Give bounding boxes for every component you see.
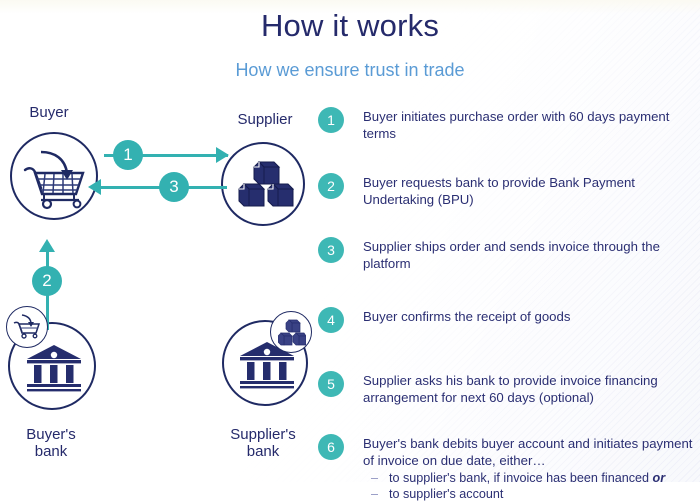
step-item-2[interactable]: 2 Buyer requests bank to provide Bank Pa… — [318, 173, 700, 208]
node-label-buyers-bank: Buyer's bank — [4, 426, 98, 460]
flow-3-badge: 3 — [159, 172, 189, 202]
sub-text-1: to supplier's bank, if invoice has been … — [389, 471, 653, 485]
step-body-5: Supplier asks his bank to provide invoic… — [363, 371, 700, 406]
node-label-supplier: Supplier — [218, 111, 312, 128]
step-text-6: Buyer's bank debits buyer account and in… — [363, 436, 700, 469]
step-item-5[interactable]: 5 Supplier asks his bank to provide invo… — [318, 371, 700, 406]
sub-dash-marker: – — [371, 470, 378, 486]
step-item-1[interactable]: 1 Buyer initiates purchase order with 60… — [318, 107, 700, 142]
boxes-icon — [238, 158, 294, 214]
flow-1-badge: 1 — [113, 140, 143, 170]
node-supplier[interactable] — [221, 142, 305, 226]
node-label-buyer: Buyer — [4, 104, 94, 121]
flow-2-badge: 2 — [32, 266, 62, 296]
step-number-6: 6 — [318, 434, 344, 460]
page-subtitle: How we ensure trust in trade — [0, 60, 700, 81]
page-title: How it works — [0, 8, 700, 44]
step-item-6[interactable]: 6 Buyer's bank debits buyer account and … — [318, 434, 700, 502]
step-body-3: Supplier ships order and sends invoice t… — [363, 237, 700, 272]
sub-dash-marker: – — [371, 486, 378, 502]
step-6-subitem-1: – to supplier's bank, if invoice has bee… — [363, 470, 700, 486]
step-number-5: 5 — [318, 371, 344, 397]
step-text-5: Supplier asks his bank to provide invoic… — [363, 373, 700, 406]
step-item-4[interactable]: 4 Buyer confirms the receipt of goods — [318, 307, 700, 333]
slide-canvas: How it works How we ensure trust in trad… — [0, 0, 700, 482]
step-number-1: 1 — [318, 107, 344, 133]
steps-list: 1 Buyer initiates purchase order with 60… — [318, 107, 700, 502]
sub-text-2: to supplier's account — [389, 487, 503, 501]
shopping-cart-icon — [21, 142, 91, 212]
step-item-3[interactable]: 3 Supplier ships order and sends invoice… — [318, 237, 700, 272]
step-text-2: Buyer requests bank to provide Bank Paym… — [363, 175, 700, 208]
step-6-subitem-2: – to supplier's account — [363, 486, 700, 502]
step-number-3: 3 — [318, 237, 344, 263]
step-number-2: 2 — [318, 173, 344, 199]
boxes-icon — [278, 319, 306, 347]
step-text-4: Buyer confirms the receipt of goods — [363, 309, 700, 326]
step-text-1: Buyer initiates purchase order with 60 d… — [363, 109, 700, 142]
badge-suppliers-bank-boxes — [270, 311, 312, 353]
flow-3-arrowhead — [88, 179, 101, 195]
flow-1-arrowhead — [216, 147, 229, 163]
step-body-1: Buyer initiates purchase order with 60 d… — [363, 107, 700, 142]
bank-icon — [25, 343, 83, 395]
step-body-2: Buyer requests bank to provide Bank Paym… — [363, 173, 700, 208]
node-label-suppliers-bank: Supplier's bank — [208, 426, 318, 460]
step-6-sublist: – to supplier's bank, if invoice has bee… — [363, 470, 700, 502]
sub-emphasis-1: or — [653, 471, 666, 485]
step-number-4: 4 — [318, 307, 344, 333]
badge-buyers-bank-cart — [6, 306, 48, 348]
node-buyer[interactable] — [10, 132, 98, 220]
step-body-4: Buyer confirms the receipt of goods — [363, 307, 700, 326]
step-body-6: Buyer's bank debits buyer account and in… — [363, 434, 700, 502]
step-text-3: Supplier ships order and sends invoice t… — [363, 239, 700, 272]
shopping-cart-icon — [13, 313, 41, 341]
flow-2-arrowhead — [39, 239, 55, 252]
